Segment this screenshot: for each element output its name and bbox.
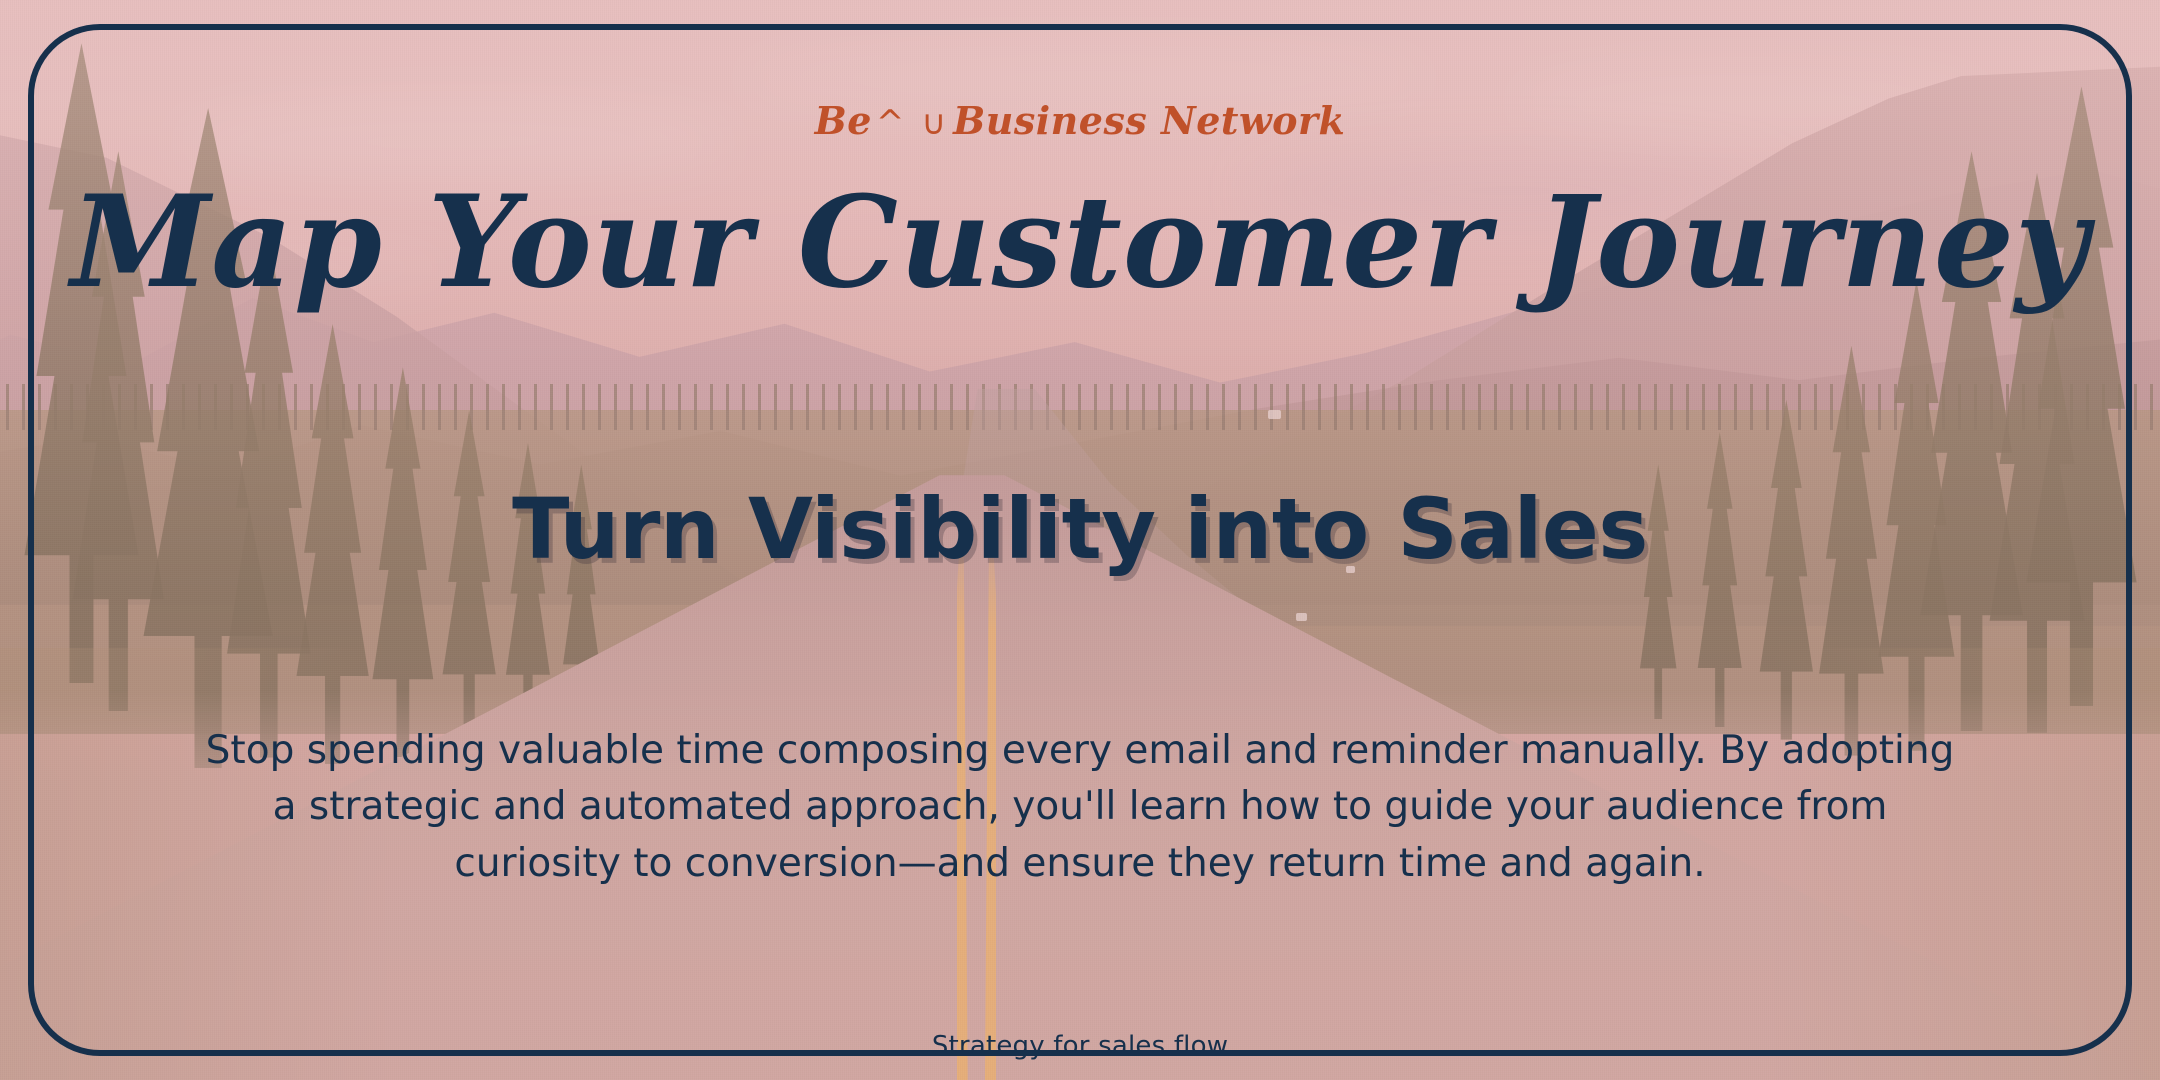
body-paragraph: Stop spending valuable time composing ev…: [80, 723, 2080, 893]
brand-logo-suffix: Business Network: [953, 98, 1345, 143]
poster-content: Be^ ∪Business Network Map Your Customer …: [0, 0, 2160, 1080]
subheading: Turn Visibility into Sales: [512, 487, 1648, 571]
brand-logo: Be^ ∪Business Network: [815, 102, 1346, 140]
poster-canvas: Be^ ∪Business Network Map Your Customer …: [0, 0, 2160, 1080]
brand-logo-prefix: Be: [815, 98, 872, 143]
body-line-3: curiosity to conversion—and ensure they …: [80, 836, 2080, 893]
brand-logo-symbols: ^ ∪: [872, 103, 953, 143]
body-line-1: Stop spending valuable time composing ev…: [80, 723, 2080, 780]
page-title: Map Your Customer Journey: [71, 178, 2089, 307]
footnote-text: Strategy for sales flow: [932, 1031, 1228, 1061]
body-line-2: a strategic and automated approach, you'…: [80, 779, 2080, 836]
